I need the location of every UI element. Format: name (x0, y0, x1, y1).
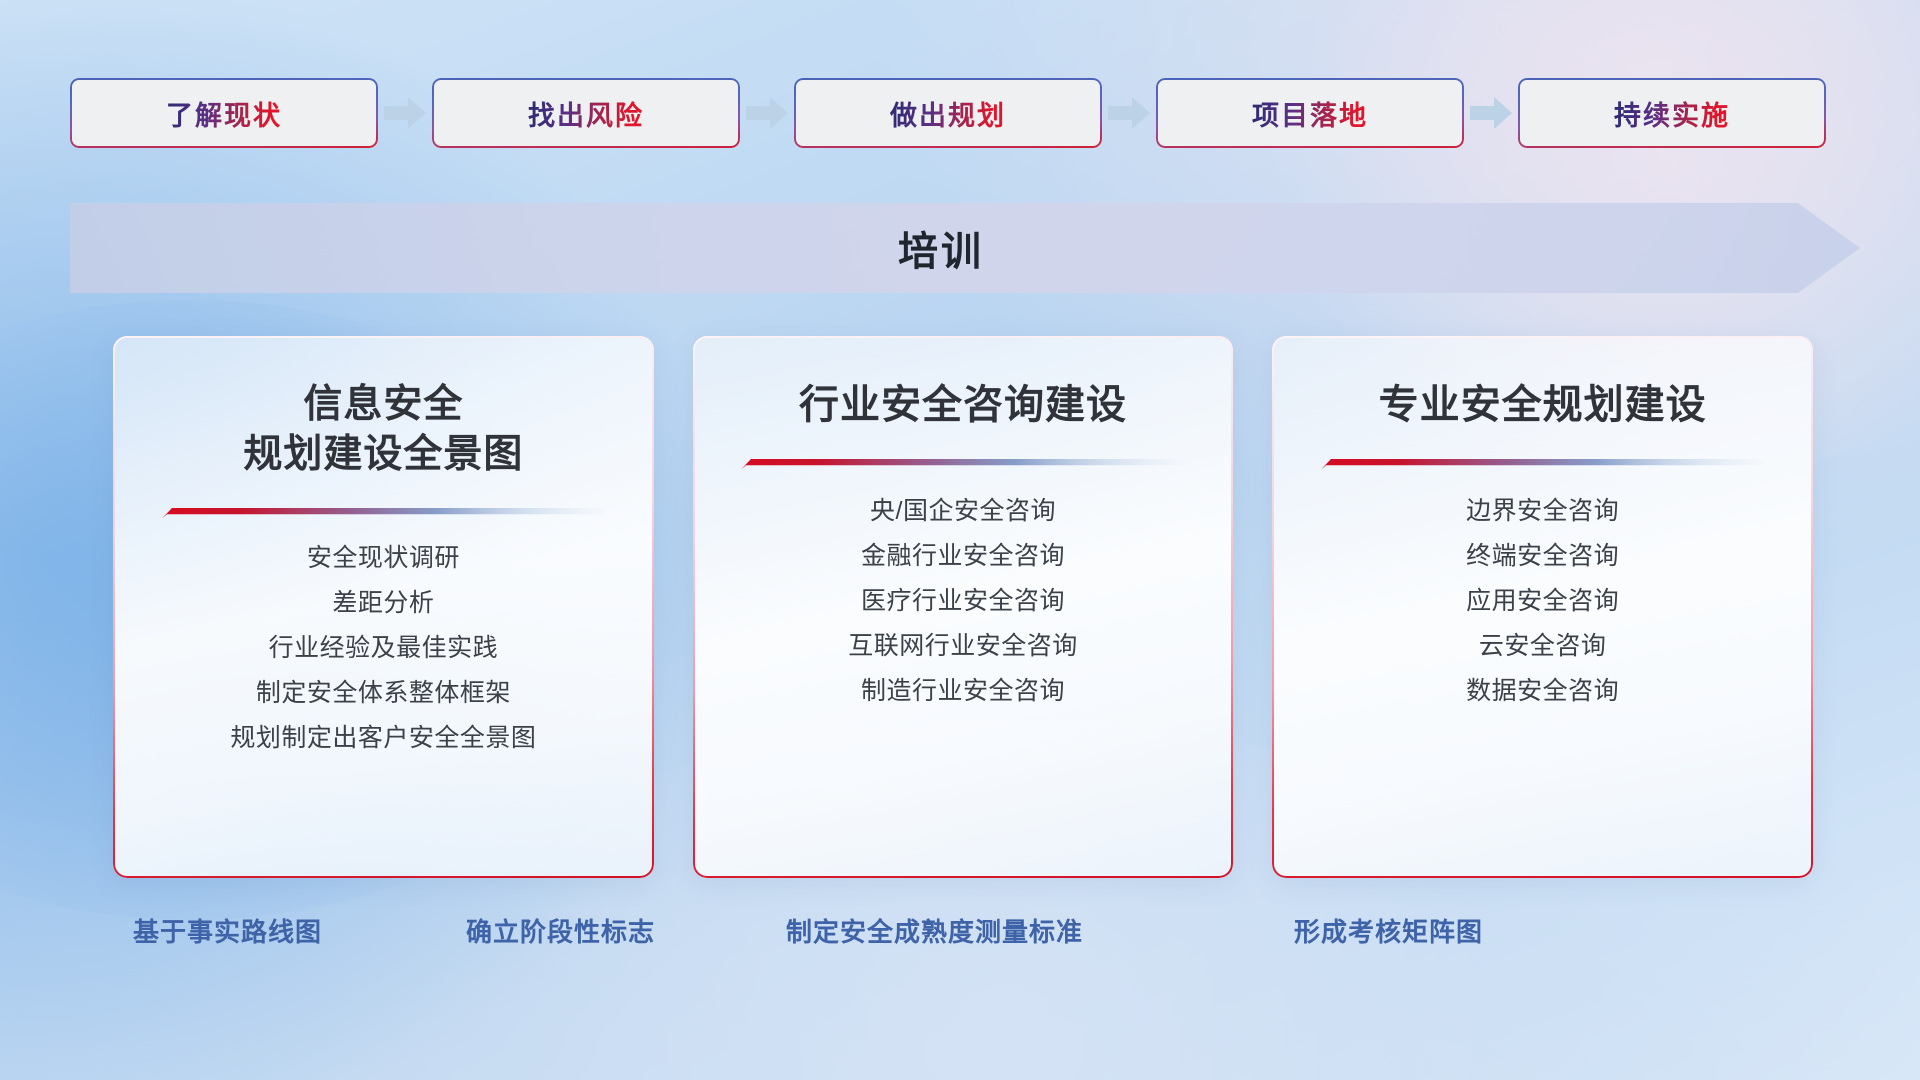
list-item: 安全现状调研 (113, 536, 654, 581)
card-divider-bar (1321, 457, 1764, 470)
arrow-right-icon (740, 78, 794, 148)
step-item-3[interactable]: 项目落地 (1156, 78, 1464, 148)
arrow-right-icon (378, 78, 432, 148)
step-label: 项目落地 (1252, 94, 1368, 133)
list-item: 规划制定出客户安全全景图 (113, 716, 654, 761)
step-label: 持续实施 (1614, 94, 1730, 133)
list-item: 医疗行业安全咨询 (693, 579, 1234, 624)
list-item: 差距分析 (113, 581, 654, 626)
list-item: 终端安全咨询 (1272, 534, 1813, 579)
list-item: 云安全咨询 (1272, 624, 1813, 669)
training-banner: 培训 (70, 203, 1860, 293)
step-label: 了解现状 (166, 94, 282, 133)
card-title: 信息安全 规划建设全景图 (243, 380, 523, 480)
card-panorama[interactable]: 信息安全 规划建设全景图 (113, 336, 654, 878)
list-item: 央/国企安全咨询 (693, 489, 1234, 534)
card-row: 信息安全 规划建设全景图 (113, 336, 1813, 878)
caption-maturity: 制定安全成熟度测量标准 (786, 912, 1083, 949)
process-step-row: 了解现状 找出风险 做出规划 项目落地 (70, 78, 1860, 148)
list-item: 应用安全咨询 (1272, 579, 1813, 624)
caption-roadmap: 基于事实路线图 (133, 912, 322, 949)
arrow-right-icon (1464, 78, 1518, 148)
card-item-list: 央/国企安全咨询 金融行业安全咨询 医疗行业安全咨询 互联网行业安全咨询 制造行… (693, 489, 1234, 714)
step-item-0[interactable]: 了解现状 (70, 78, 378, 148)
card-item-list: 安全现状调研 差距分析 行业经验及最佳实践 制定安全体系整体框架 规划制定出客户… (113, 536, 654, 761)
card-divider-bar (162, 506, 605, 519)
step-item-4[interactable]: 持续实施 (1518, 78, 1826, 148)
list-item: 互联网行业安全咨询 (693, 624, 1234, 669)
arrow-right-icon (1102, 78, 1156, 148)
step-item-2[interactable]: 做出规划 (794, 78, 1102, 148)
list-item: 制定安全体系整体框架 (113, 671, 654, 716)
caption-row: 基于事实路线图 确立阶段性标志 制定安全成熟度测量标准 形成考核矩阵图 (0, 912, 1920, 956)
infographic-stage: 了解现状 找出风险 做出规划 项目落地 (0, 0, 1920, 1080)
card-title: 专业安全规划建设 (1379, 380, 1707, 431)
list-item: 数据安全咨询 (1272, 669, 1813, 714)
list-item: 行业经验及最佳实践 (113, 626, 654, 671)
caption-matrix: 形成考核矩阵图 (1294, 912, 1483, 949)
step-label: 找出风险 (528, 94, 644, 133)
card-industry[interactable]: 行业安全咨询建设 (693, 336, 1234, 878)
step-item-1[interactable]: 找出风险 (432, 78, 740, 148)
caption-milestone: 确立阶段性标志 (466, 912, 655, 949)
banner-title: 培训 (70, 203, 1860, 293)
card-title: 行业安全咨询建设 (799, 380, 1127, 431)
card-item-list: 边界安全咨询 终端安全咨询 应用安全咨询 云安全咨询 数据安全咨询 (1272, 489, 1813, 714)
list-item: 边界安全咨询 (1272, 489, 1813, 534)
card-divider-bar (741, 457, 1184, 470)
step-label: 做出规划 (890, 94, 1006, 133)
list-item: 金融行业安全咨询 (693, 534, 1234, 579)
list-item: 制造行业安全咨询 (693, 669, 1234, 714)
card-professional[interactable]: 专业安全规划建设 (1272, 336, 1813, 878)
